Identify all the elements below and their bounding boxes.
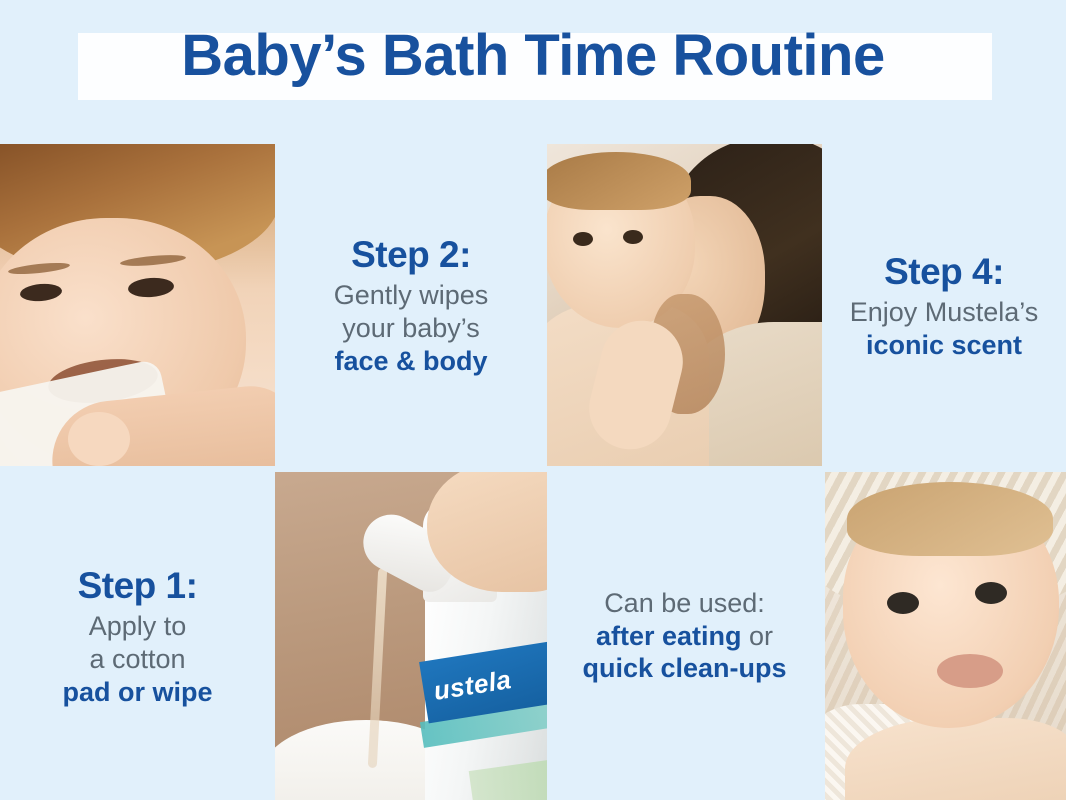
photo-baby-lying-down [825, 472, 1066, 800]
photo-mother-kissing-baby [547, 144, 822, 466]
baby-right-eye-shape [975, 582, 1007, 604]
step-2-heading: Step 2: [351, 232, 471, 277]
step-1-line-2: a cotton [89, 643, 185, 676]
usage-line-2-rest: or [742, 621, 774, 651]
baby-hair-shape [847, 482, 1053, 556]
mustela-label-text: ustela [431, 664, 513, 707]
adult-thumb-shape [68, 412, 130, 466]
step-1-heading: Step 1: [78, 563, 198, 608]
baby-right-eye-shape [623, 230, 643, 244]
page-title: Baby’s Bath Time Routine [0, 0, 1066, 110]
step-2-line-2: your baby’s [342, 312, 480, 345]
step-4-heading: Step 4: [884, 249, 1004, 294]
step-4-line-2: iconic scent [866, 329, 1022, 362]
photo-baby-being-wiped [0, 144, 275, 466]
step-4-line-1: Enjoy Mustela’s [850, 296, 1039, 329]
usage-text-cell: Can be used: after eating or quick clean… [547, 472, 822, 800]
baby-left-eye-shape [573, 232, 593, 246]
step-1-line-3: pad or wipe [62, 676, 212, 709]
step-1-text-cell: Step 1: Apply to a cotton pad or wipe [0, 472, 275, 800]
step-2-line-3: face & body [334, 345, 487, 378]
usage-line-2: after eating or [596, 620, 773, 653]
step-2-text-cell: Step 2: Gently wipes your baby’s face & … [275, 144, 547, 466]
usage-line-3: quick clean-ups [582, 652, 786, 685]
baby-mouth-shape [937, 654, 1003, 688]
step-2-line-1: Gently wipes [334, 279, 489, 312]
baby-left-eye-shape [887, 592, 919, 614]
baby-hair-shape [547, 152, 691, 210]
usage-line-1: Can be used: [604, 587, 765, 620]
photo-mustela-bottle-pouring: ustela [275, 472, 547, 800]
usage-line-2-bold: after eating [596, 621, 742, 651]
step-1-line-1: Apply to [89, 610, 187, 643]
step-4-text-cell: Step 4: Enjoy Mustela’s iconic scent [822, 144, 1066, 466]
